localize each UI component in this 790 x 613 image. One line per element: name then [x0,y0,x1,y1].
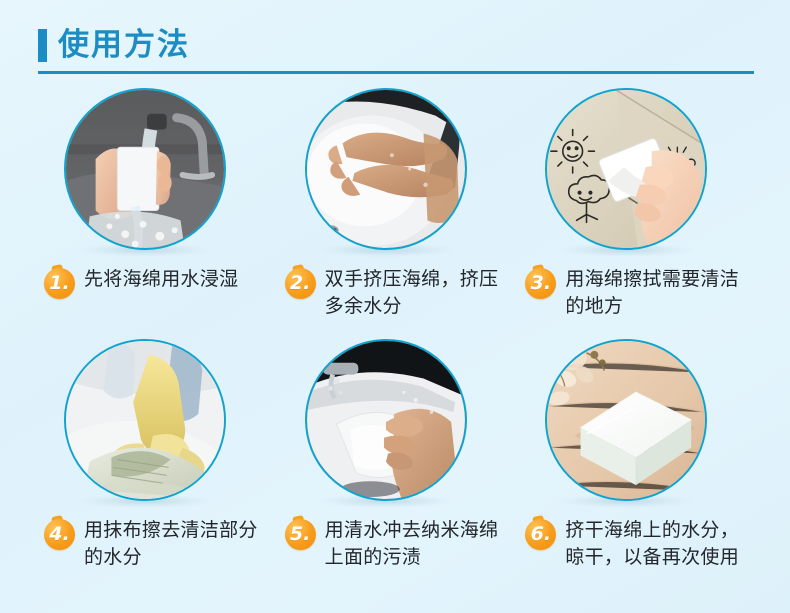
step-number-badge: 1. [44,268,75,299]
step-5-caption: 5. 用清水冲去纳米海绵 上面的污渍 [279,517,514,571]
badge-circle-shape: 1. [44,268,75,299]
steps-grid: 1. 先将海绵用水浸湿 [38,88,754,590]
step-1-caption: 1. 先将海绵用水浸湿 [38,266,273,299]
step-item-4: 4. 用抹布擦去清洁部分 的水分 [38,339,273,590]
sponge-under-faucet-photo [64,88,226,250]
step-6-caption: 6. 挤干海绵上的水分， 晾干，以备再次使用 [519,517,754,571]
step-item-3: 3. 用海绵擦拭需要清洁 的地方 [519,88,754,339]
gloved-hands-wiping-cloth-photo [64,339,226,501]
step-number-label: 2. [290,274,310,293]
badge-circle-shape: 6. [525,519,556,550]
step-item-1: 1. 先将海绵用水浸湿 [38,88,273,339]
badge-circle-shape: 3. [525,268,556,299]
step-3-photo-wrap [545,88,707,250]
step-item-6: 6. 挤干海绵上的水分， 晾干，以备再次使用 [519,339,754,590]
step-3-caption: 3. 用海绵擦拭需要清洁 的地方 [519,266,754,320]
step-5-text: 用清水冲去纳米海绵 上面的污渍 [325,517,499,571]
step-number-label: 3. [531,274,551,293]
dry-sponge-on-wood-photo [545,339,707,501]
step-item-2: 2. 双手挤压海绵，挤压 多余水分 [279,88,514,339]
step-number-label: 4. [49,525,69,544]
badge-circle-shape: 2. [285,268,316,299]
step-number-label: 5. [290,525,310,544]
rinsing-sponge-photo [305,339,467,501]
badge-circle-shape: 4. [44,519,75,550]
step-6-photo-wrap [545,339,707,501]
badge-circle-shape: 5. [285,519,316,550]
step-4-photo-wrap [64,339,226,501]
page-header: 使用方法 [38,22,754,74]
hands-squeezing-sponge-photo [305,88,467,250]
step-2-text: 双手挤压海绵，挤压 多余水分 [325,266,499,320]
step-2-caption: 2. 双手挤压海绵，挤压 多余水分 [279,266,514,320]
step-number-badge: 3. [525,268,556,299]
step-number-label: 1. [49,274,69,293]
step-6-text: 挤干海绵上的水分， 晾干，以备再次使用 [565,517,739,571]
step-3-text: 用海绵擦拭需要清洁 的地方 [565,266,739,320]
page-title: 使用方法 [58,30,190,61]
header-inner: 使用方法 [38,22,754,68]
step-number-badge: 4. [44,519,75,550]
title-accent-bar [38,29,47,62]
step-5-photo-wrap [305,339,467,501]
step-number-badge: 2. [285,268,316,299]
step-1-photo-wrap [64,88,226,250]
step-1-text: 先将海绵用水浸湿 [84,266,238,293]
step-number-badge: 6. [525,519,556,550]
step-number-label: 6. [531,525,551,544]
wiping-crayon-wall-photo [545,88,707,250]
step-4-text: 用抹布擦去清洁部分 的水分 [84,517,258,571]
title-divider [38,71,754,74]
step-number-badge: 5. [285,519,316,550]
step-item-5: 5. 用清水冲去纳米海绵 上面的污渍 [279,339,514,590]
step-4-caption: 4. 用抹布擦去清洁部分 的水分 [38,517,273,571]
step-2-photo-wrap [305,88,467,250]
